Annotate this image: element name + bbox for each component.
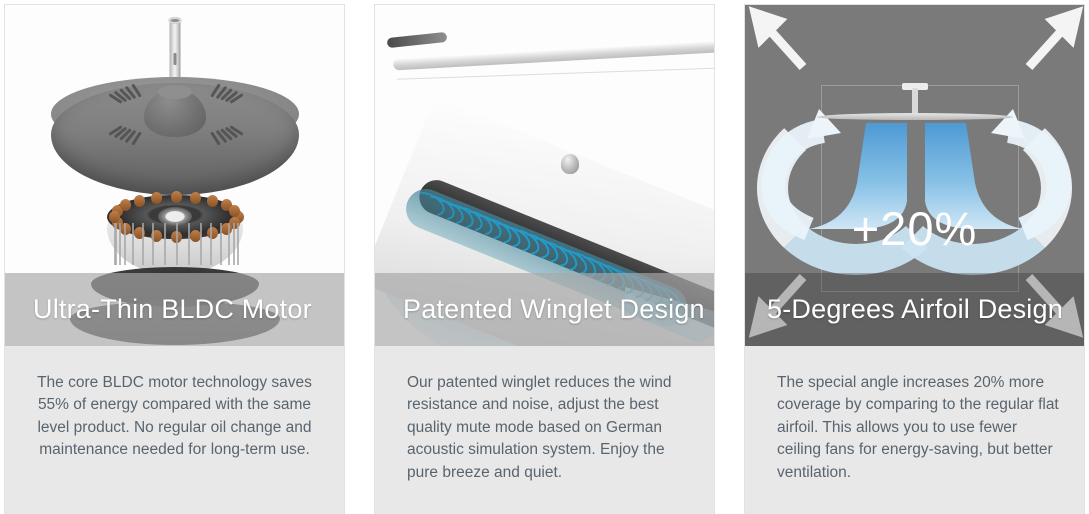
feature-card-winglet[interactable]: Patented Winglet Design Our patented win…: [374, 4, 715, 514]
card-description-bldc: The core BLDC motor technology saves 55%…: [29, 372, 320, 462]
feature-card-bldc-motor[interactable]: Ultra-Thin BLDC Motor The core BLDC moto…: [4, 4, 345, 514]
stator-coil-icon: [171, 191, 182, 203]
card-body-bldc: The core BLDC motor technology saves 55%…: [5, 346, 344, 514]
card-body-winglet: Our patented winglet reduces the wind re…: [375, 346, 714, 514]
stator-lamination-line: [220, 223, 222, 265]
card-title-band-winglet: Patented Winglet Design: [375, 273, 714, 346]
motor-bearing-icon: [158, 207, 192, 226]
card-title-band-airfoil: 5-Degrees Airfoil Design: [745, 273, 1084, 346]
feature-card-airfoil[interactable]: +20% 5-Degrees Airfoil Design The specia…: [744, 4, 1085, 514]
stator-lamination-line: [124, 223, 126, 265]
airfoil-image: +20% 5-Degrees Airfoil Design: [745, 5, 1084, 346]
bldc-motor-image: Ultra-Thin BLDC Motor: [5, 5, 344, 346]
far-blade-tip-icon: [387, 32, 448, 48]
card-body-airfoil: The special angle increases 20% more cov…: [745, 346, 1084, 514]
stator-lamination-line: [152, 223, 154, 265]
card-title-airfoil: 5-Degrees Airfoil Design: [745, 294, 1063, 325]
far-blade-edge-line: [397, 67, 714, 80]
feature-card-row: Ultra-Thin BLDC Motor The core BLDC moto…: [0, 0, 1089, 514]
stator-lamination-line: [119, 223, 121, 265]
stator-coil-icon: [109, 211, 120, 223]
stator-lamination-line: [164, 223, 166, 265]
fan-downrod-icon: [912, 88, 918, 116]
stator-lamination-line: [233, 223, 235, 265]
far-blade-icon: [393, 40, 714, 71]
stator-lamination-line: [132, 223, 134, 265]
stator-lamination-line: [200, 223, 202, 265]
motor-shaft-top-icon: [168, 17, 181, 24]
card-title-winglet: Patented Winglet Design: [375, 294, 705, 325]
stator-lamination-line: [188, 223, 190, 265]
stator-lamination-line: [228, 223, 230, 265]
stator-coil-icon: [134, 195, 145, 207]
stator-coil-icon: [190, 192, 201, 204]
stator-lamination-line: [176, 223, 178, 265]
card-title-band-bldc: Ultra-Thin BLDC Motor: [5, 273, 344, 346]
winglet-image: Patented Winglet Design: [375, 5, 714, 346]
fan-blade-icon: [817, 113, 1013, 120]
coverage-badge: +20%: [745, 201, 1084, 256]
card-description-airfoil: The special angle increases 20% more cov…: [769, 372, 1060, 484]
blade-screw-icon: [561, 154, 579, 174]
motor-hub-cap-icon: [158, 85, 192, 99]
motor-shaft-slot-icon: [173, 53, 176, 65]
card-title-bldc: Ultra-Thin BLDC Motor: [5, 294, 312, 325]
stator-coil-icon: [207, 195, 218, 207]
stator-lamination-line: [210, 223, 212, 265]
card-description-winglet: Our patented winglet reduces the wind re…: [399, 372, 690, 484]
stator-lamination-line: [237, 223, 239, 265]
stator-lamination-line: [142, 223, 144, 265]
stator-coil-icon: [221, 223, 232, 235]
stator-lamination-line: [115, 223, 117, 265]
